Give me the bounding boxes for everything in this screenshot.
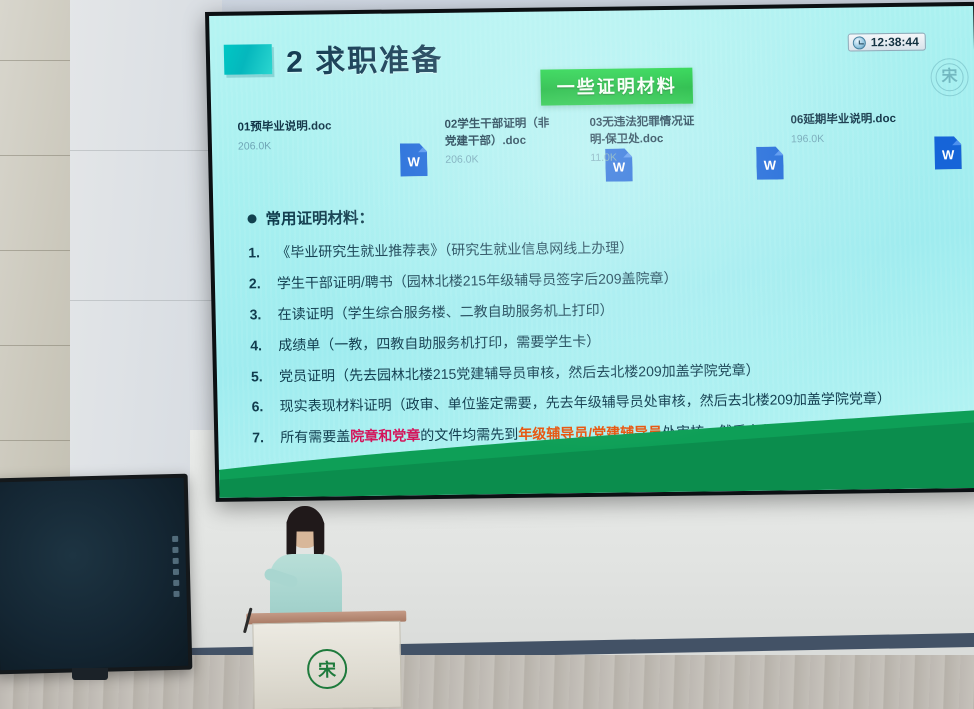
list-item: 2. 学生干部证明/聘书（园林北楼215年级辅导员签字后209盖院章） bbox=[249, 265, 965, 293]
list-item-text: 《毕业研究生就业推荐表》（研究生就业信息网线上办理） bbox=[276, 238, 633, 262]
podium-front: 宋 bbox=[252, 621, 401, 709]
section-banner: 一些证明材料 bbox=[540, 68, 693, 106]
section-heading-label: 常用证明材料： bbox=[265, 206, 374, 229]
list-item-number: 2. bbox=[249, 274, 267, 293]
file-name: 03无违法犯罪情况证明-保卫处.doc bbox=[589, 113, 706, 148]
clock-icon bbox=[853, 36, 866, 49]
list-item-number: 3. bbox=[249, 305, 267, 324]
file-item[interactable]: 03无违法犯罪情况证明-保卫处.doc 11.0K W bbox=[589, 112, 783, 182]
clock-time: 12:38:44 bbox=[871, 35, 919, 50]
wall-monitor[interactable] bbox=[0, 474, 192, 675]
file-meta: 06延期毕业说明.doc 196.0K bbox=[790, 111, 896, 145]
list-item-text: 在读证明（学生综合服务楼、二教自助服务机上打印） bbox=[277, 300, 613, 323]
list-item-number: 4. bbox=[250, 336, 268, 355]
emblem-inner: 宋 bbox=[935, 63, 964, 91]
file-meta: 02学生干部证明（非党建干部）.doc 206.0K bbox=[444, 115, 561, 166]
slide-footer-wave bbox=[218, 408, 974, 498]
word-doc-icon[interactable]: W bbox=[756, 146, 784, 179]
wall-panel-middle bbox=[62, 0, 222, 500]
section-heading: 常用证明材料： bbox=[247, 198, 963, 229]
lecture-hall-scene: 2 求职准备 12:38:44 宋 一些证明材料 01预毕业说明.doc bbox=[0, 0, 974, 709]
projection-screen: 2 求职准备 12:38:44 宋 一些证明材料 01预毕业说明.doc bbox=[205, 2, 974, 502]
screen-bezel: 2 求职准备 12:38:44 宋 一些证明材料 01预毕业说明.doc bbox=[205, 2, 974, 502]
title-accent-block bbox=[224, 44, 273, 75]
list-item-number: 1. bbox=[248, 243, 266, 262]
section-banner-label: 一些证明材料 bbox=[557, 76, 677, 98]
list-item: 1. 《毕业研究生就业推荐表》（研究生就业信息网线上办理） bbox=[248, 234, 964, 262]
list-item-text: 学生干部证明/聘书（园林北楼215年级辅导员签字后209盖院章） bbox=[277, 269, 678, 293]
file-size: 206.0K bbox=[445, 153, 561, 167]
title-number: 2 bbox=[286, 46, 305, 79]
list-item: 5. 党员证明（先去园林北楼215党建辅导员审核，然后去北楼209加盖学院党章） bbox=[251, 358, 967, 386]
file-size: 196.0K bbox=[791, 132, 897, 145]
page-title: 2 求职准备 bbox=[286, 35, 444, 81]
monitor-stand bbox=[72, 668, 108, 680]
word-doc-icon[interactable]: W bbox=[400, 143, 428, 176]
podium: 宋 bbox=[252, 611, 402, 709]
list-item: 3. 在读证明（学生综合服务楼、二教自助服务机上打印） bbox=[249, 296, 965, 324]
file-item[interactable]: 06延期毕业说明.doc 196.0K W bbox=[790, 110, 962, 171]
list-item-number: 5. bbox=[251, 367, 269, 386]
file-name: 01预毕业说明.doc bbox=[237, 118, 331, 136]
presentation-slide: 2 求职准备 12:38:44 宋 一些证明材料 01预毕业说明.doc bbox=[209, 6, 974, 498]
file-item[interactable]: 01预毕业说明.doc 206.0K W bbox=[237, 117, 427, 178]
slide-title-row: 2 求职准备 bbox=[224, 35, 444, 82]
word-doc-icon[interactable]: W bbox=[934, 136, 962, 169]
clock-widget[interactable]: 12:38:44 bbox=[848, 33, 926, 52]
wall-panel-left bbox=[0, 0, 70, 520]
monitor-screen bbox=[0, 478, 188, 671]
file-name: 06延期毕业说明.doc bbox=[790, 111, 896, 129]
list-item-text: 党员证明（先去园林北楼215党建辅导员审核，然后去北楼209加盖学院党章） bbox=[279, 360, 760, 385]
presenter bbox=[268, 508, 344, 628]
file-attachment-row: 01预毕业说明.doc 206.0K W 02学生干部证明（非党建干部）.doc… bbox=[237, 110, 966, 190]
university-emblem-icon: 宋 bbox=[307, 649, 348, 690]
list-item-text: 成绩单（一教，四教自助服务机打印，需要学生卡） bbox=[278, 332, 600, 355]
file-size: 206.0K bbox=[238, 139, 332, 152]
wave-shape-icon bbox=[218, 408, 974, 498]
file-meta: 01预毕业说明.doc 206.0K bbox=[237, 118, 332, 152]
file-size: 11.0K bbox=[590, 151, 706, 165]
file-meta: 03无违法犯罪情况证明-保卫处.doc 11.0K bbox=[589, 113, 706, 164]
file-name: 02学生干部证明（非党建干部）.doc bbox=[444, 115, 561, 150]
list-item-number: 6. bbox=[251, 398, 269, 417]
list-item: 4. 成绩单（一教，四教自助服务机打印，需要学生卡） bbox=[250, 327, 966, 355]
title-label: 求职准备 bbox=[315, 44, 444, 79]
university-emblem-icon: 宋 bbox=[930, 58, 969, 96]
bullet-dot-icon bbox=[247, 214, 256, 223]
